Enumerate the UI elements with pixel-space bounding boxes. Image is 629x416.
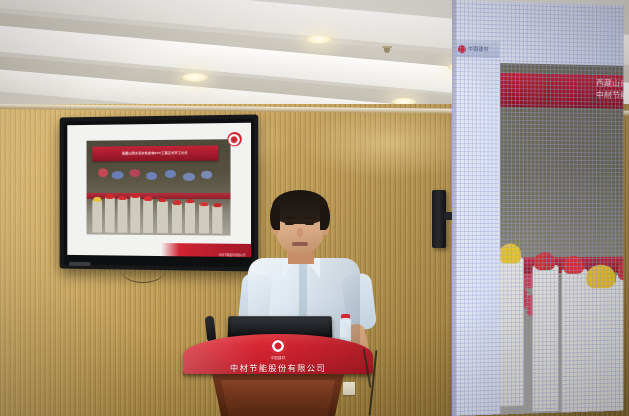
ceiling-downlight <box>182 73 208 82</box>
podium-front-panel: 中国建材 中材节能股份有限公司 <box>183 334 373 374</box>
presenter-eye-left <box>285 222 294 225</box>
presenter-mouth <box>292 242 308 246</box>
podium-logo-subtext: 中国建材 <box>271 355 286 360</box>
led-worker <box>582 282 618 414</box>
slide-banner-text: 西藏山南水泥余热发电EPC工程正式开工仪式 <box>92 146 218 161</box>
slide-worker <box>92 200 102 232</box>
podium-body-front <box>216 380 340 416</box>
led-photograph: 西藏山南 中材节能 <box>500 63 623 414</box>
tv-indicator-strip <box>69 262 90 266</box>
slide-worker <box>118 198 128 232</box>
slide-photograph: 西藏山南水泥余热发电EPC工程正式开工仪式 <box>87 139 230 235</box>
presenter-eyebrow-right <box>304 217 315 219</box>
slide-worker <box>130 196 140 232</box>
led-worker <box>616 274 624 414</box>
led-corner-logo-badge: 中国建材 <box>456 40 499 58</box>
slide-worker <box>157 201 167 233</box>
led-video-wall[interactable]: 中国建材 西藏山南 中材节能 <box>452 0 623 416</box>
slide-worker <box>213 206 223 233</box>
wall-outlet[interactable] <box>343 382 355 395</box>
led-worker <box>532 265 558 411</box>
slide-worker <box>172 203 182 233</box>
cnbm-logo-icon <box>458 45 466 53</box>
podium-organization-name: 中材节能股份有限公司 <box>230 362 326 374</box>
water-bottle-label <box>340 328 351 337</box>
cnbm-logo-icon <box>227 132 241 146</box>
laptop-screen <box>231 318 329 334</box>
led-worker <box>500 257 524 406</box>
presenter-eyebrow-left <box>284 217 295 219</box>
presenter-eye-right <box>305 222 314 225</box>
tv-screen: 西藏山南水泥余热发电EPC工程正式开工仪式 <box>67 123 251 257</box>
sprinkler-head <box>382 44 392 53</box>
led-left-edge <box>452 0 456 416</box>
wall-mounted-tv[interactable]: 西藏山南水泥余热发电EPC工程正式开工仪式 <box>60 114 259 271</box>
presenter-nose <box>297 228 303 237</box>
slide-worker <box>143 199 153 233</box>
slide-worker <box>105 197 115 232</box>
ceiling-downlight <box>306 35 332 44</box>
conference-room-photo: 西藏山南水泥余热发电EPC工程正式开工仪式 <box>0 0 629 416</box>
slide-worker-crowd <box>87 176 230 236</box>
led-banner-text-line2: 中材节能 <box>596 90 623 101</box>
slide-worker <box>185 202 195 233</box>
led-badge-text: 中国建材 <box>468 45 489 52</box>
led-banner-text-line1: 西藏山南 <box>596 78 623 89</box>
presenter-hair-side <box>270 204 280 230</box>
slide-footer-bar: 中材节能股份有限公司 <box>67 242 251 257</box>
cnbm-logo-icon <box>270 338 286 354</box>
presenter-hair-side <box>320 204 330 230</box>
slide-ceremony-banner: 西藏山南水泥余热发电EPC工程正式开工仪式 <box>92 146 218 161</box>
slide-worker <box>199 204 209 233</box>
led-ceremony-banner: 西藏山南 中材节能 <box>500 73 623 109</box>
presentation-slide: 西藏山南水泥余热发电EPC工程正式开工仪式 <box>67 123 251 257</box>
